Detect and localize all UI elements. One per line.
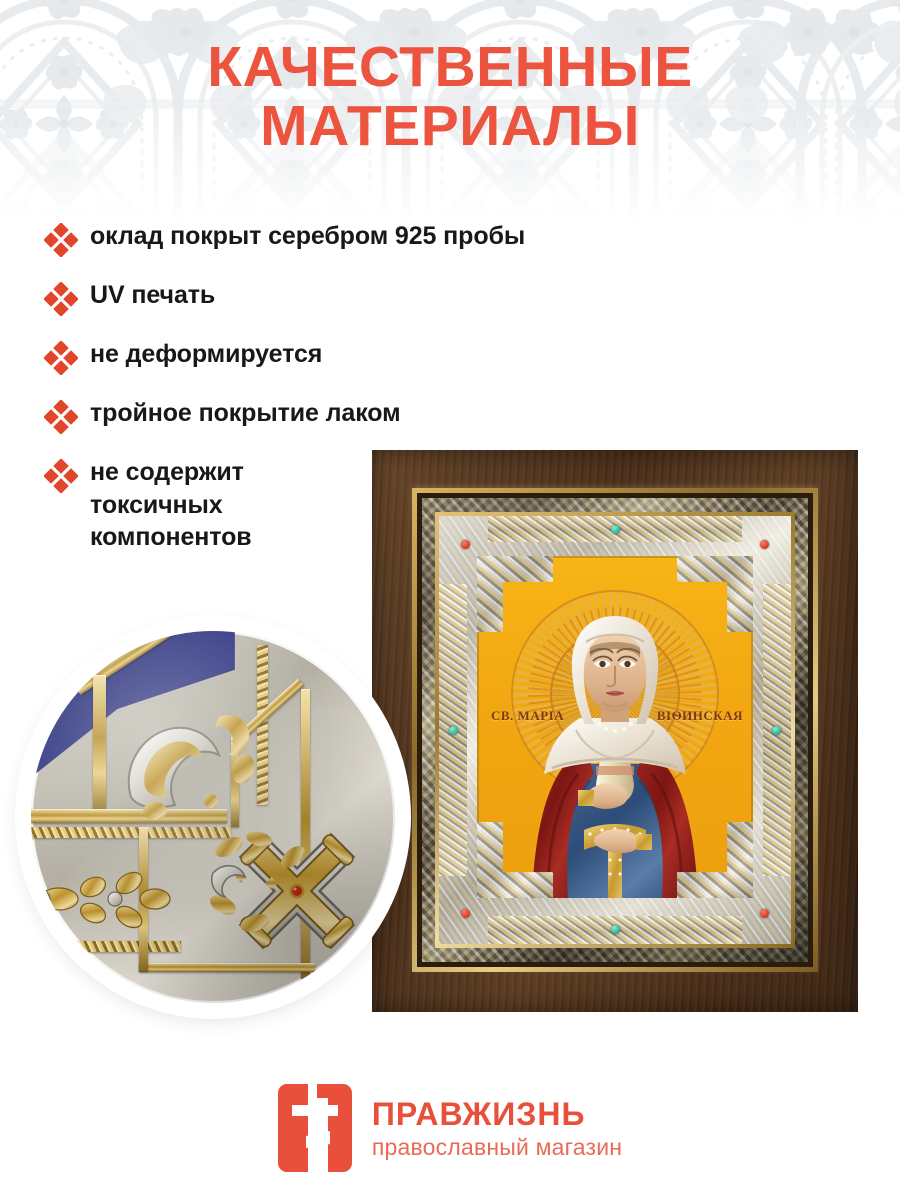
list-item: тройное покрытие лаком	[44, 397, 604, 434]
list-item-label: не деформируется	[90, 338, 322, 371]
four-diamonds-icon	[44, 459, 78, 493]
list-item: не деформируется	[44, 338, 604, 375]
list-item-label: тройное покрытие лаком	[90, 397, 401, 430]
cross-square-logo-icon	[278, 1084, 352, 1172]
list-item-label: не содержит токсичных компонентов	[90, 456, 320, 554]
detail-panel-edge-bottom	[139, 963, 315, 972]
four-diamonds-icon	[44, 341, 78, 375]
four-diamonds-icon	[44, 223, 78, 257]
icon-inscription-left: СВ. МАРIА	[491, 708, 564, 724]
detail-rope-twist-lower	[41, 941, 181, 952]
framed-icon-photo: СВ. МАРIА ВIѲИНСКАЯ	[372, 450, 858, 1012]
oklad-gem-red-tl	[461, 540, 470, 549]
saint-figure-illustration	[490, 598, 740, 898]
oklad-detail-magnifier	[22, 622, 404, 1012]
icon-inscription-right: ВIѲИНСКАЯ	[657, 708, 743, 724]
oklad-gem-green-right	[772, 726, 781, 735]
list-item-label: UV печать	[90, 279, 215, 312]
brand-name: ПРАВЖИЗНЬ	[372, 1098, 622, 1130]
brand-text: ПРАВЖИЗНЬ православный магазин	[372, 1098, 622, 1159]
page-title: КАЧЕСТВЕННЫЕ МАТЕРИАЛЫ	[0, 38, 900, 155]
list-item-label: оклад покрыт серебром 925 пробы	[90, 220, 525, 253]
promo-page: КАЧЕСТВЕННЫЕ МАТЕРИАЛЫ оклад покрыт сере…	[0, 0, 900, 1200]
detail-leaf-accents-icon	[207, 827, 317, 947]
detail-rope-twist-horizontal	[31, 827, 231, 838]
four-diamonds-icon	[44, 282, 78, 316]
detail-floral-band-icon	[33, 857, 193, 941]
list-item: UV печать	[44, 279, 604, 316]
oklad-gem-red-br	[760, 909, 769, 918]
detail-gold-band-vert	[93, 675, 106, 815]
silver-oklad-plate: СВ. МАРIА ВIѲИНСКАЯ	[439, 516, 791, 944]
brand-tagline: православный магазин	[372, 1136, 622, 1159]
oklad-gem-red-tr	[760, 540, 769, 549]
painted-icon-window: СВ. МАРIА ВIѲИНСКАЯ	[477, 556, 753, 898]
four-diamonds-icon	[44, 400, 78, 434]
detail-acanthus-ornament-icon	[115, 693, 265, 823]
magnifier-content	[31, 631, 395, 1003]
list-item: оклад покрыт серебром 925 пробы	[44, 220, 604, 257]
oklad-gem-red-bl	[461, 909, 470, 918]
oklad-gem-green-bottom	[611, 925, 620, 934]
oklad-gem-green-top	[611, 525, 620, 534]
brand-logo[interactable]: ПРАВЖИЗНЬ православный магазин	[0, 1084, 900, 1172]
oklad-gem-green-left	[449, 726, 458, 735]
